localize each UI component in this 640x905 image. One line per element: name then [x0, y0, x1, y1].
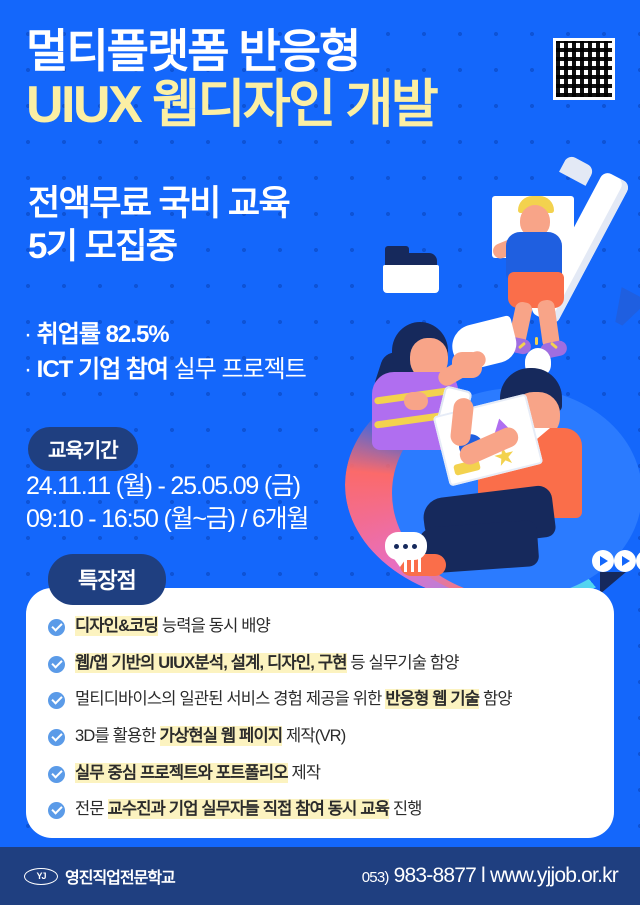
qr-code[interactable]: [553, 38, 615, 100]
feature-highlight-5: 실무 중심 프로젝트와 포트폴리오: [75, 763, 288, 783]
dark-triangle-decoration: [600, 572, 626, 594]
feature-post-2: 등 실무기술 함양: [347, 654, 459, 672]
poster-root: 멀티플랫폼 반응형 UIUX 웹디자인 개발 전액무료 국비 교육 5기 모집중…: [0, 0, 640, 905]
feature-text-2: 웹/앱 기반의 UIUX분석, 설계, 디자인, 구현 등 실무기술 함양: [75, 653, 459, 674]
subheading-line-2: 5기 모집중: [28, 226, 458, 269]
person-phone-hand: [404, 392, 428, 410]
feature-pre-4: 3D를 활용한: [75, 727, 160, 745]
play-button-icon-1: [592, 550, 614, 572]
play-button-icon-2: [614, 550, 636, 572]
title-line-1: 멀티플랫폼 반응형: [26, 28, 546, 76]
highlight-item-1: · 취업률 82.5%: [24, 318, 306, 353]
chat-dot-1: [394, 544, 399, 549]
contact-separator: l: [481, 864, 485, 887]
period-badge: 교육기간: [28, 427, 138, 471]
feature-highlight-2: 웹/앱 기반의 UIUX분석, 설계, 디자인, 구현: [75, 653, 347, 673]
feature-highlight-1: 디자인&코딩: [75, 616, 158, 636]
pen-cap-illustration: [559, 154, 595, 186]
poster-title: 멀티플랫폼 반응형 UIUX 웹디자인 개발: [26, 28, 546, 132]
qr-code-pattern: [556, 41, 612, 97]
period-hours: 09:10 - 16:50 (월~금) / 6개월: [26, 503, 308, 536]
list-item: 멀티디바이스의 일관된 서비스 경험 제공을 위한 반응형 웹 기술 함양: [48, 689, 608, 710]
highlight-bullet-2: ·: [24, 356, 31, 383]
features-list: 디자인&코딩 능력을 동시 배양 웹/앱 기반의 UIUX분석, 설계, 디자인…: [48, 616, 608, 836]
list-item: 실무 중심 프로젝트와 포트폴리오 제작: [48, 763, 608, 784]
check-icon: [48, 619, 65, 636]
title-line-2: UIUX 웹디자인 개발: [26, 78, 546, 133]
feature-highlight-3: 반응형 웹 기술: [385, 689, 479, 709]
person-standing-shorts: [508, 272, 564, 308]
feature-post-1: 능력을 동시 배양: [158, 617, 270, 635]
feature-text-4: 3D를 활용한 가상현실 웹 페이지 제작(VR): [75, 726, 345, 747]
feature-highlight-6: 교수진과 기업 실무자들 직접 참여 동시 교육: [108, 799, 390, 819]
pen-tip-illustration: [606, 287, 640, 331]
features-badge: 특장점: [48, 554, 166, 605]
check-icon: [48, 656, 65, 673]
check-icon: [48, 692, 65, 709]
highlight-item-2: · ICT 기업 참여 실무 프로젝트: [24, 353, 306, 388]
feature-post-3: 함양: [479, 690, 512, 708]
poster-subheading: 전액무료 국비 교육 5기 모집중: [28, 183, 458, 268]
school-emblem-icon: YJ: [24, 868, 58, 885]
highlight-bold-1: 취업률 82.5%: [37, 321, 169, 348]
feature-pre-3: 멀티디바이스의 일관된 서비스 경험 제공을 위한: [75, 690, 385, 708]
phone-prefix: 053): [362, 869, 389, 886]
check-icon: [48, 802, 65, 819]
feature-pre-6: 전문: [75, 800, 108, 818]
subheading-line-1: 전액무료 국비 교육: [28, 183, 458, 226]
feature-text-5: 실무 중심 프로젝트와 포트폴리오 제작: [75, 763, 320, 784]
feature-post-5: 제작: [288, 764, 321, 782]
chat-dot-3: [412, 544, 417, 549]
highlight-list: · 취업률 82.5% · ICT 기업 참여 실무 프로젝트: [24, 318, 306, 388]
feature-text-1: 디자인&코딩 능력을 동시 배양: [75, 616, 270, 637]
school-name: 영진직업전문학교: [65, 864, 175, 888]
footer-bar: YJ 영진직업전문학교 053) 983-8877 l www.yjjob.or…: [0, 847, 640, 905]
chat-dot-2: [403, 544, 408, 549]
feature-highlight-4: 가상현실 웹 페이지: [160, 726, 283, 746]
feature-post-6: 진행: [389, 800, 422, 818]
lightbulb-ray-2: [535, 337, 538, 345]
check-icon: [48, 729, 65, 746]
list-item: 전문 교수진과 기업 실무자들 직접 참여 동시 교육 진행: [48, 799, 608, 820]
website-url[interactable]: www.yjjob.or.kr: [490, 864, 618, 887]
feature-text-6: 전문 교수진과 기업 실무자들 직접 참여 동시 교육 진행: [75, 799, 422, 820]
period-dates: 24.11.11 (월) - 25.05.09 (금): [26, 470, 308, 503]
phone-number[interactable]: 983-8877: [394, 864, 476, 887]
list-item: 디자인&코딩 능력을 동시 배양: [48, 616, 608, 637]
highlight-rest-2: 실무 프로젝트: [168, 356, 306, 383]
period-text: 24.11.11 (월) - 25.05.09 (금) 09:10 - 16:5…: [26, 470, 308, 536]
list-item: 3D를 활용한 가상현실 웹 페이지 제작(VR): [48, 726, 608, 747]
contact-info[interactable]: 053) 983-8877 l www.yjjob.or.kr: [362, 864, 618, 888]
highlight-bold-2: ICT 기업 참여: [37, 356, 168, 383]
school-logo: YJ 영진직업전문학교: [24, 864, 175, 888]
folder-icon: [383, 265, 439, 293]
list-item: 웹/앱 기반의 UIUX분석, 설계, 디자인, 구현 등 실무기술 함양: [48, 653, 608, 674]
feature-text-3: 멀티디바이스의 일관된 서비스 경험 제공을 위한 반응형 웹 기술 함양: [75, 689, 512, 710]
feature-post-4: 제작(VR): [282, 727, 345, 745]
check-icon: [48, 766, 65, 783]
chat-bubble-tail-icon: [392, 556, 408, 567]
highlight-bullet-1: ·: [24, 321, 31, 348]
